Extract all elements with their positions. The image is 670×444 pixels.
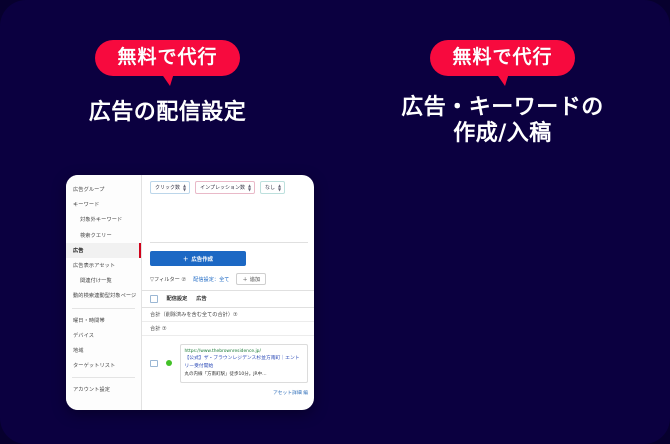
sidebar-item-negative-keyword[interactable]: 対象外キーワード — [66, 212, 141, 227]
sidebar-item-account-settings[interactable]: アカウント設定 — [66, 382, 141, 397]
sidebar-item-region[interactable]: 地域 — [66, 343, 141, 358]
right-heading-line1: 広告・キーワードの — [335, 95, 670, 121]
table-header: 配信設定 広告 — [142, 291, 314, 308]
ad-preview-title: 【公式】ザ・ブラウンレジデンス杉並方南町｜エントリー受付開始 — [185, 356, 300, 369]
ad-preview: https://www.thebrownresidence.jp/ 【公式】ザ・… — [180, 344, 309, 383]
metric-select-row: クリック数 ▲▼ インプレッション数 ▲▼ なし ▲▼ — [142, 181, 314, 194]
ad-row-footer[interactable]: アセット詳細 編 — [142, 387, 314, 396]
row-checkbox[interactable] — [150, 360, 158, 368]
metric-select-none[interactable]: なし ▲▼ — [260, 181, 285, 194]
add-filter-button[interactable]: ＋追加 — [236, 273, 266, 285]
left-badge-wrap: 無料で代行 — [0, 40, 335, 76]
ad-manager-screenshot: 広告グループ キーワード 対象外キーワード 検索クエリー 広告 広告表示アセット… — [66, 175, 314, 410]
right-badge-wrap: 無料で代行 — [335, 40, 670, 76]
create-ad-button[interactable]: ＋ 広告作成 — [150, 251, 246, 266]
sidebar-item-ad-group[interactable]: 広告グループ — [66, 182, 141, 197]
sidebar-item-ad-assets[interactable]: 広告表示アセット — [66, 258, 141, 273]
edit-link: 編 — [303, 391, 308, 396]
left-heading: 広告の配信設定 — [0, 100, 335, 126]
ads-main: クリック数 ▲▼ インプレッション数 ▲▼ なし ▲▼ — [142, 175, 314, 410]
help-icon: ⑦ — [182, 277, 187, 283]
sidebar-item-device[interactable]: デバイス — [66, 328, 141, 343]
ad-preview-url: https://www.thebrownresidence.jp/ — [185, 349, 261, 354]
ads-sidebar: 広告グループ キーワード 対象外キーワード 検索クエリー 広告 広告表示アセット… — [66, 175, 142, 410]
plus-icon: ＋ — [183, 255, 188, 263]
left-panel: 無料で代行 広告の配信設定 広告グループ キーワード 対象外キーワード 検索クエ… — [0, 0, 335, 444]
sidebar-item-dynamic-pages[interactable]: 動的検索連動型対象ページ — [66, 288, 141, 303]
status-dot-active — [166, 360, 172, 366]
left-badge: 無料で代行 — [95, 40, 239, 76]
asset-detail-link: アセット詳細 — [273, 391, 302, 396]
chart-area-divider — [150, 242, 308, 243]
column-header-ad: 広告 — [196, 295, 206, 302]
sidebar-item-associations[interactable]: 関連付け一覧 — [66, 273, 141, 288]
metric-select-clicks[interactable]: クリック数 ▲▼ — [150, 181, 190, 194]
summary-row-all: 合計（削除済みを含む全ての合計）⑦ — [142, 308, 314, 322]
table-row: https://www.thebrownresidence.jp/ 【公式】ザ・… — [142, 336, 314, 387]
plus-icon: ＋ — [242, 276, 247, 283]
right-panel: 無料で代行 広告・キーワードの 作成/入稿 YAHOO! JAPAN — [335, 0, 670, 444]
stepper-icon: ▲▼ — [248, 184, 251, 190]
sidebar-item-target-list[interactable]: ターゲットリスト — [66, 358, 141, 373]
right-heading-line2: 作成/入稿 — [335, 121, 670, 147]
metric-select-impressions[interactable]: インプレッション数 ▲▼ — [195, 181, 255, 194]
filter-row: ▽フィルター ⑦ 配信設定：全て ＋追加 — [142, 273, 314, 291]
stepper-icon: ▲▼ — [183, 184, 186, 190]
select-all-checkbox[interactable] — [150, 295, 158, 303]
sidebar-item-schedule[interactable]: 曜日・時間帯 — [66, 313, 141, 328]
filter-button[interactable]: ▽フィルター ⑦ — [150, 276, 186, 283]
column-header-delivery: 配信設定 — [167, 295, 188, 302]
poster-root: 無料で代行 広告の配信設定 広告グループ キーワード 対象外キーワード 検索クエ… — [0, 0, 670, 444]
right-heading: 広告・キーワードの 作成/入稿 — [335, 95, 670, 147]
filter-chip-delivery[interactable]: 配信設定：全て — [193, 276, 229, 283]
right-badge: 無料で代行 — [430, 40, 574, 76]
sidebar-divider-2 — [72, 377, 135, 378]
sidebar-item-keyword[interactable]: キーワード — [66, 197, 141, 212]
summary-row-total: 合計 ⑦ — [142, 322, 314, 336]
stepper-icon: ▲▼ — [278, 184, 281, 190]
sidebar-item-ads[interactable]: 広告 — [66, 243, 141, 258]
sidebar-divider-1 — [72, 308, 135, 309]
sidebar-item-search-query[interactable]: 検索クエリー — [66, 228, 141, 243]
ad-preview-desc: 丸の内線「方南町駅」徒歩10分。JR中… — [185, 372, 267, 377]
